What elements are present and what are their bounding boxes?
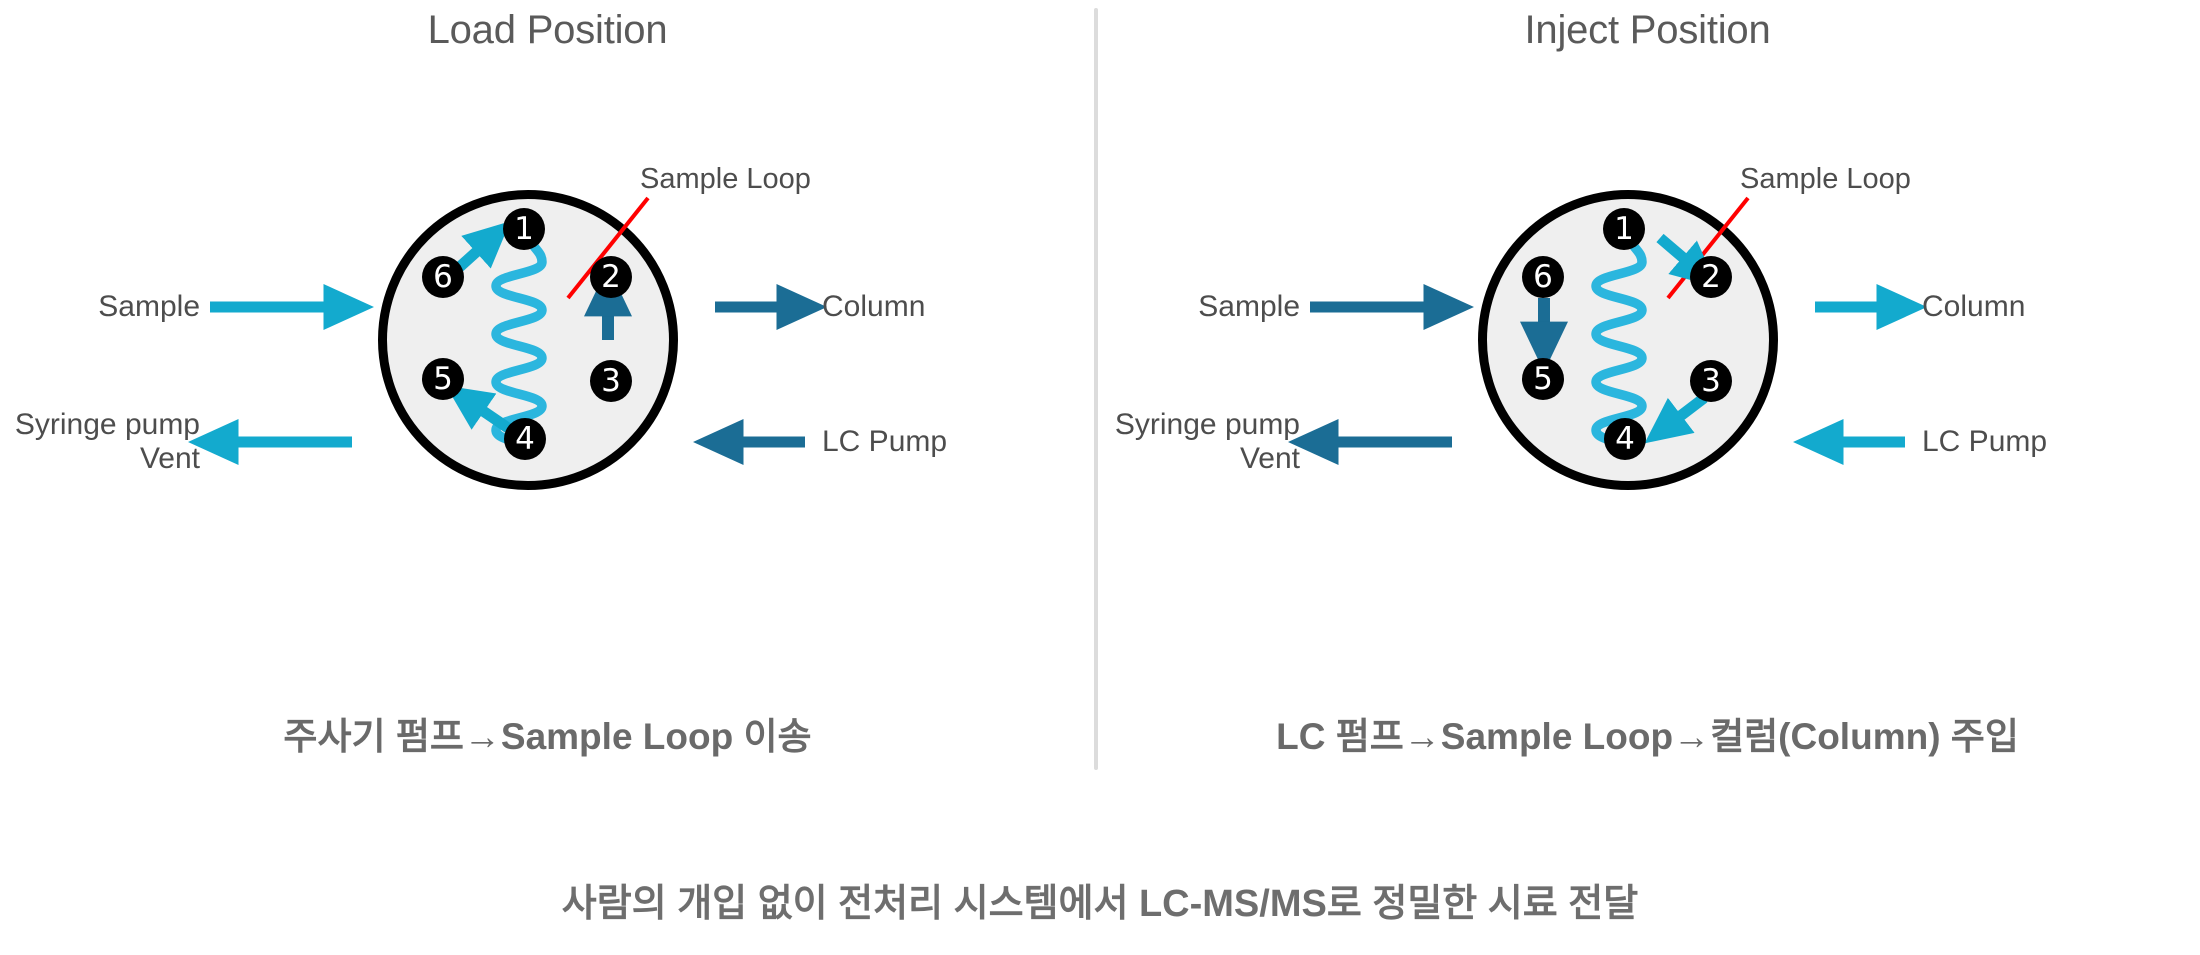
port-3-inject: 3: [1690, 360, 1732, 402]
io-label-sample-inject: Sample: [1110, 290, 1300, 324]
io-label-syringe-pump-line1-inject: Syringe pump: [1100, 408, 1300, 442]
io-label-column-inject: Column: [1922, 290, 2182, 324]
port-3-load: 3: [590, 360, 632, 402]
io-label-lc-pump-inject: LC Pump: [1922, 425, 2182, 459]
io-label-syringe-pump-vent-load: Syringe pump Vent: [0, 408, 200, 475]
port-6-inject: 6: [1522, 256, 1564, 298]
internal-flow-3-to-4-inject: [1662, 398, 1704, 430]
io-label-syringe-pump-vent-inject: Syringe pump Vent: [1100, 408, 1300, 475]
valve-load: 1 2 3 4 5 6: [378, 190, 678, 490]
port-4-inject: 4: [1604, 418, 1646, 460]
panel-caption-inject: LC 펌프→Sample Loop→컬럼(Column) 주입: [1100, 706, 2195, 760]
io-label-syringe-pump-line1: Syringe pump: [0, 408, 200, 442]
port-4-load: 4: [504, 418, 546, 460]
port-2-load: 2: [590, 256, 632, 298]
panel-caption-load: 주사기 펌프→Sample Loop 이송: [0, 706, 1095, 760]
io-label-sample-load: Sample: [10, 290, 200, 324]
io-label-syringe-pump-line2-inject: Vent: [1100, 442, 1300, 476]
panel-inject-position: Inject Position: [1100, 0, 2195, 800]
port-5-inject: 5: [1522, 358, 1564, 400]
panel-title-load: Load Position: [0, 8, 1095, 53]
port-5-load: 5: [422, 358, 464, 400]
port-1-load: 1: [503, 208, 545, 250]
diagram-root: Load Position: [0, 0, 2200, 955]
panel-title-inject: Inject Position: [1100, 8, 2195, 53]
io-label-lc-pump-load: LC Pump: [822, 425, 1082, 459]
port-6-load: 6: [422, 256, 464, 298]
panel-load-position: Load Position: [0, 0, 1095, 800]
port-2-inject: 2: [1690, 256, 1732, 298]
internal-flow-4-to-5-load: [464, 398, 508, 428]
io-label-column-load: Column: [822, 290, 1082, 324]
valve-inject: 1 2 3 4 5 6: [1478, 190, 1778, 490]
port-1-inject: 1: [1603, 208, 1645, 250]
footer-caption: 사람의 개입 없이 전처리 시스템에서 LC-MS/MS로 정밀한 시료 전달: [0, 872, 2200, 927]
io-label-syringe-pump-line2: Vent: [0, 442, 200, 476]
